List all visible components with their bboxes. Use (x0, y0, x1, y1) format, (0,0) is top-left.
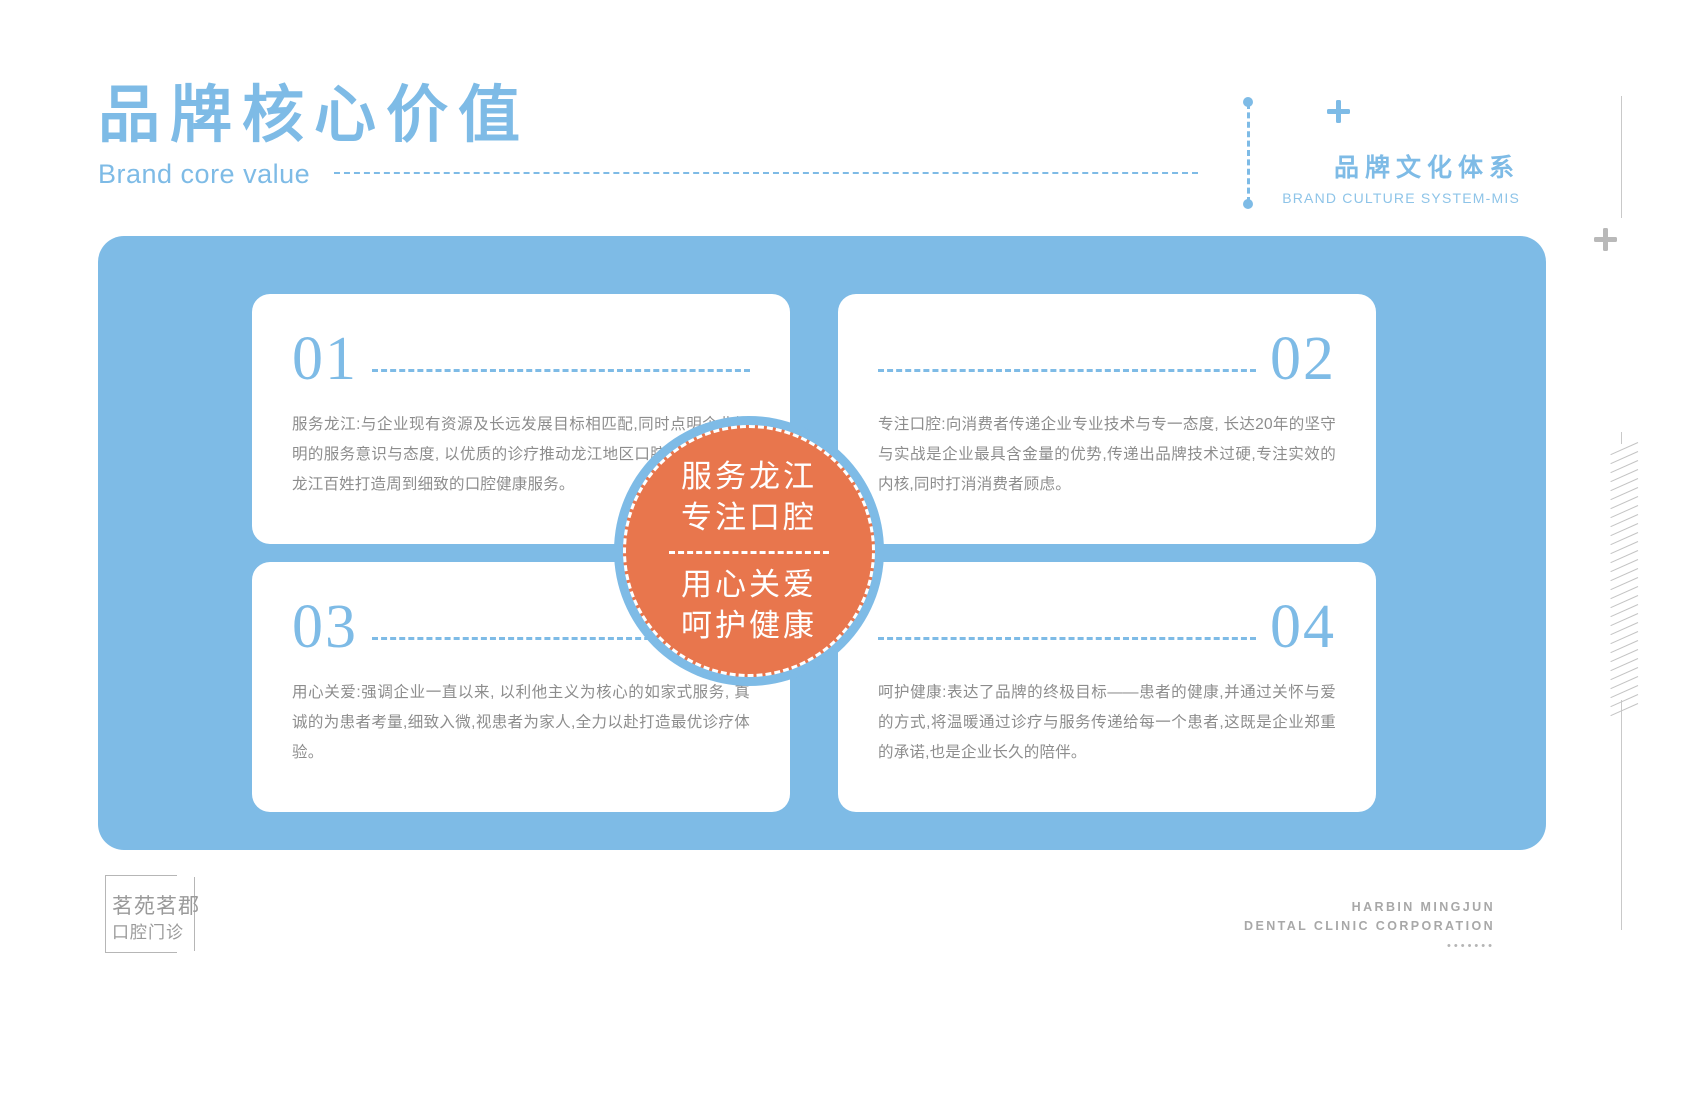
right-edge-hatch-marks (1604, 442, 1638, 704)
plus-icon-secondary (1594, 228, 1617, 251)
right-edge-rule-top (1621, 96, 1622, 218)
page-header: 品牌核心价值 Brand core value (98, 84, 1198, 190)
card-number: 01 (292, 328, 358, 390)
logo-name: 茗苑茗郡 (112, 893, 200, 921)
card-description: 专注口腔:向消费者传递企业专业技术与专一态度, 长达20年的坚守与实战是企业最具… (878, 410, 1336, 501)
badge-slogan-line-4: 呵护健康 (681, 605, 817, 646)
card-number: 04 (1270, 596, 1336, 658)
brand-culture-block: 品牌文化体系 BRAND CULTURE SYSTEM-MIS (1282, 148, 1520, 206)
header-vertical-dotted-divider (1243, 97, 1253, 209)
brand-culture-title: 品牌文化体系 (1282, 148, 1520, 184)
card-description: 呵护健康:表达了品牌的终极目标——患者的健康,并通过关怀与爱的方式,将温暖通过诊… (878, 678, 1336, 769)
card-number: 03 (292, 596, 358, 658)
value-card-04: 04 呵护健康:表达了品牌的终极目标——患者的健康,并通过关怀与爱的方式,将温暖… (838, 562, 1376, 812)
value-card-02: 02 专注口腔:向消费者传递企业专业技术与专一态度, 长达20年的坚守与实战是企… (838, 294, 1376, 544)
logo-frame-gap-bottom (177, 951, 195, 954)
logo-subname: 口腔门诊 (112, 921, 200, 945)
badge-slogan-line-3: 用心关爱 (681, 564, 817, 605)
logo-text: 茗苑茗郡 口腔门诊 (112, 893, 200, 945)
plus-icon (1327, 100, 1350, 123)
right-edge-rule-bottom (1621, 700, 1622, 930)
card-header: 04 (878, 596, 1336, 658)
card-dashed-rule (878, 637, 1256, 640)
card-number: 02 (1270, 328, 1336, 390)
page-title: 品牌核心价值 (98, 84, 1198, 147)
divider-dashed-line (1247, 103, 1250, 203)
card-header: 01 (292, 328, 750, 390)
brand-culture-subtitle: BRAND CULTURE SYSTEM-MIS (1282, 190, 1520, 206)
card-dashed-rule (372, 369, 750, 372)
card-header: 02 (878, 328, 1336, 390)
footer-line-2: DENTAL CLINIC CORPORATION (1244, 919, 1495, 933)
page-subtitle-row: Brand core value (98, 159, 1198, 190)
footer-dots: ••••••• (1244, 940, 1495, 952)
header-dashed-rule (334, 172, 1198, 174)
badge-slogan-line-1: 服务龙江 (681, 456, 817, 497)
badge-slogan-line-2: 专注口腔 (681, 497, 817, 538)
card-description: 用心关爱:强调企业一直以来, 以利他主义为核心的如家式服务, 真诚的为患者考量,… (292, 678, 750, 769)
center-slogan-badge: 服务龙江 专注口腔 用心关爱 呵护健康 (614, 416, 884, 686)
badge-inner-circle: 服务龙江 专注口腔 用心关爱 呵护健康 (623, 425, 875, 677)
card-dashed-rule (878, 369, 1256, 372)
footer-corporation-block: HARBIN MINGJUN DENTAL CLINIC CORPORATION… (1244, 900, 1495, 952)
page-subtitle: Brand core value (98, 159, 310, 190)
divider-dot-bottom (1243, 199, 1253, 209)
badge-dashed-divider (669, 551, 829, 554)
footer-line-1: HARBIN MINGJUN (1244, 900, 1495, 914)
logo-frame-gap-top (177, 874, 195, 877)
